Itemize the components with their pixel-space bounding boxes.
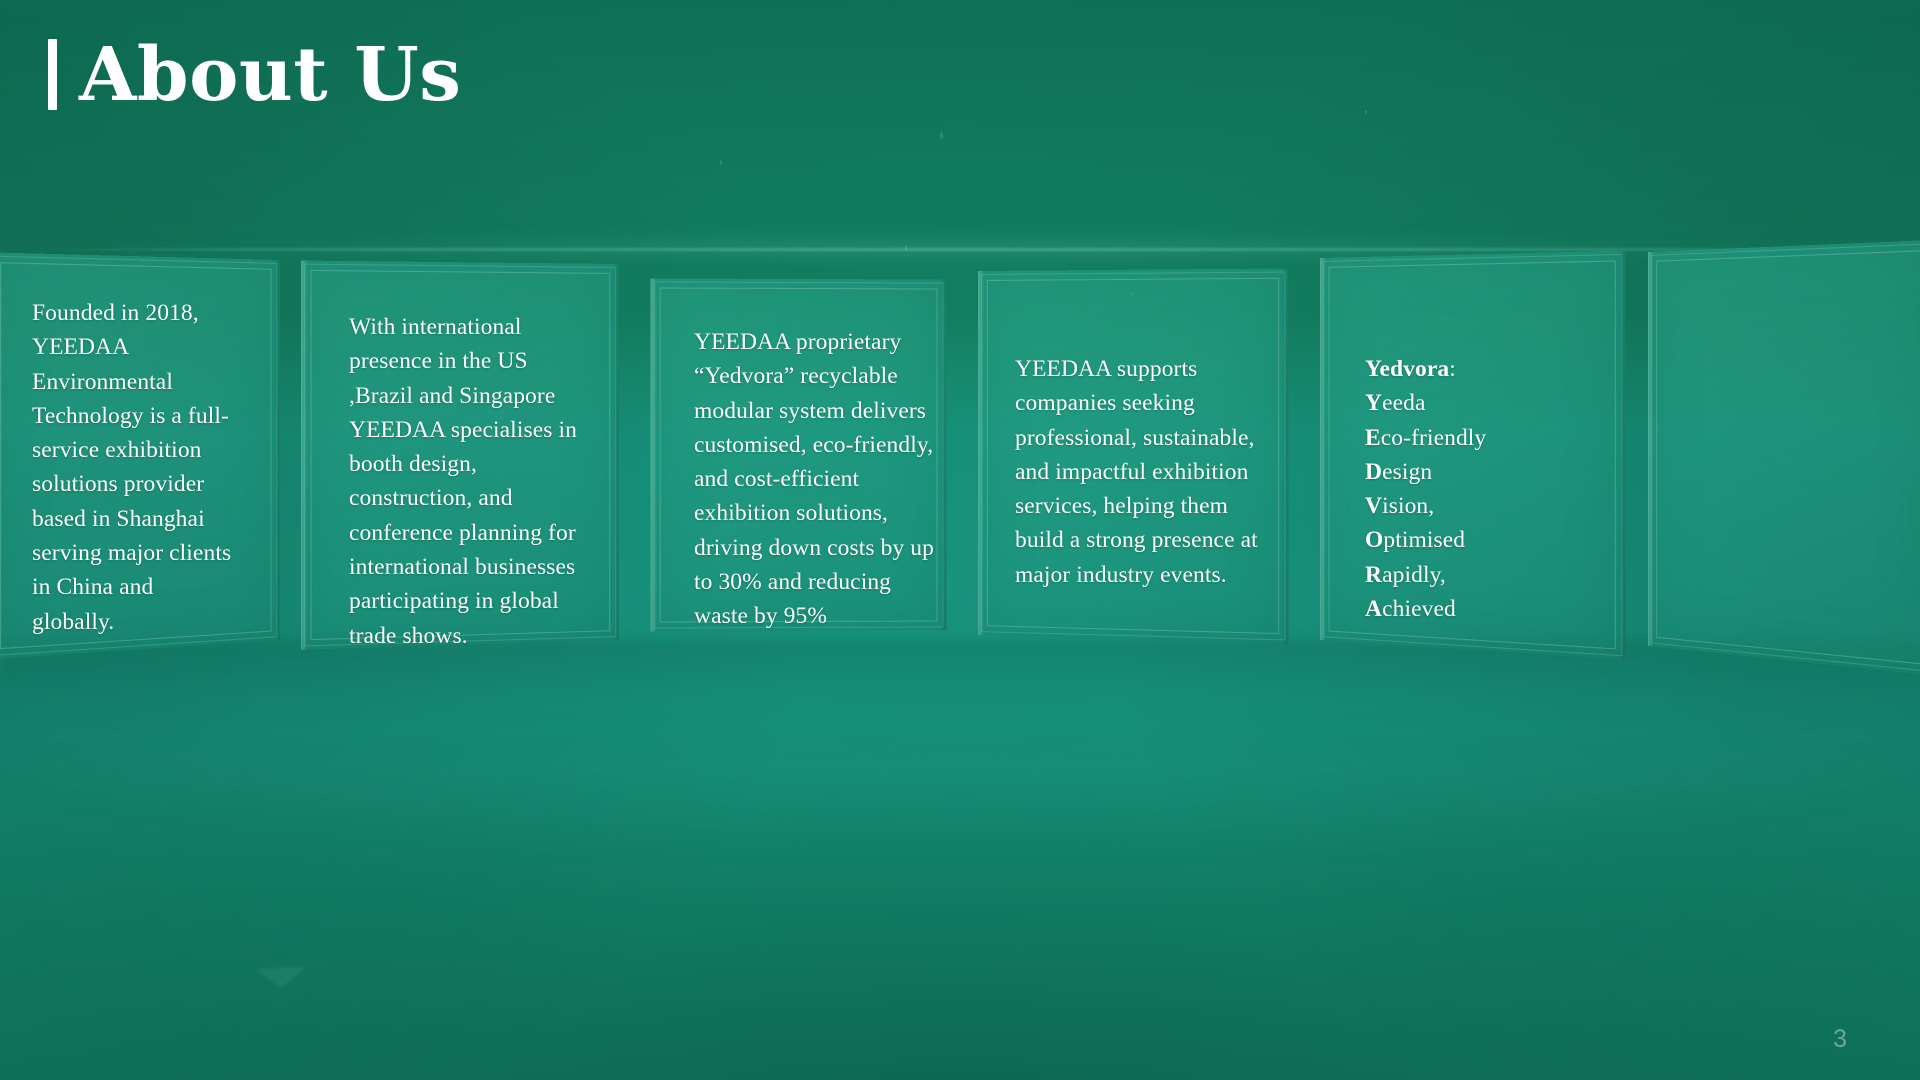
acronym-rest: esign xyxy=(1382,459,1432,485)
acronym-initial: A xyxy=(1365,596,1382,622)
acronym-line-e: Eco-friendly xyxy=(1365,421,1600,455)
panel-5-acronym-block: Yedvora: YeedaEco-friendlyDesignVision,O… xyxy=(1365,352,1600,626)
acronym-rest: eeda xyxy=(1382,390,1425,416)
acronym-line-o: Optimised xyxy=(1365,523,1600,557)
panel-1-text: Founded in 2018, YEEDAA Environmental Te… xyxy=(32,296,232,639)
acronym-rest: chieved xyxy=(1382,596,1456,622)
acronym-line-y: Yeeda xyxy=(1365,386,1600,420)
acronym-initial: O xyxy=(1365,527,1383,553)
acronym-line-r: Rapidly, xyxy=(1365,558,1600,592)
slide-canvas: About Us xyxy=(0,0,1920,1080)
panel-4-text: YEEDAA supports companies seeking profes… xyxy=(1015,352,1273,592)
acronym-heading: Yedvora: xyxy=(1365,352,1600,386)
acronym-rest: co-friendly xyxy=(1381,425,1487,451)
acronym-initial: Y xyxy=(1365,390,1382,416)
acronym-line-v: Vision, xyxy=(1365,489,1600,523)
acronym-heading-word: Yedvora xyxy=(1365,356,1449,382)
acronym-rest: ision, xyxy=(1382,493,1434,519)
acronym-initial: V xyxy=(1365,493,1382,519)
acronym-initial: D xyxy=(1365,459,1382,485)
page-number: 3 xyxy=(1833,1025,1848,1054)
acronym-list: YeedaEco-friendlyDesignVision,OptimisedR… xyxy=(1365,386,1600,626)
acronym-rest: apidly, xyxy=(1382,562,1446,588)
panel-3-text: YEEDAA proprietary “Yedvora” recyclable … xyxy=(694,325,934,634)
acronym-line-a: Achieved xyxy=(1365,592,1600,626)
acronym-rest: ptimised xyxy=(1383,527,1465,553)
panel-text-layer: Founded in 2018, YEEDAA Environmental Te… xyxy=(0,0,1920,1080)
acronym-heading-colon: : xyxy=(1449,356,1456,382)
acronym-initial: R xyxy=(1365,562,1382,588)
acronym-line-d: Design xyxy=(1365,455,1600,489)
panel-2-text: With international presence in the US ,B… xyxy=(349,310,597,653)
acronym-initial: E xyxy=(1365,425,1381,451)
title-accent-bar xyxy=(48,39,57,110)
page-title-block: About Us xyxy=(48,36,461,116)
page-title: About Us xyxy=(79,36,461,116)
